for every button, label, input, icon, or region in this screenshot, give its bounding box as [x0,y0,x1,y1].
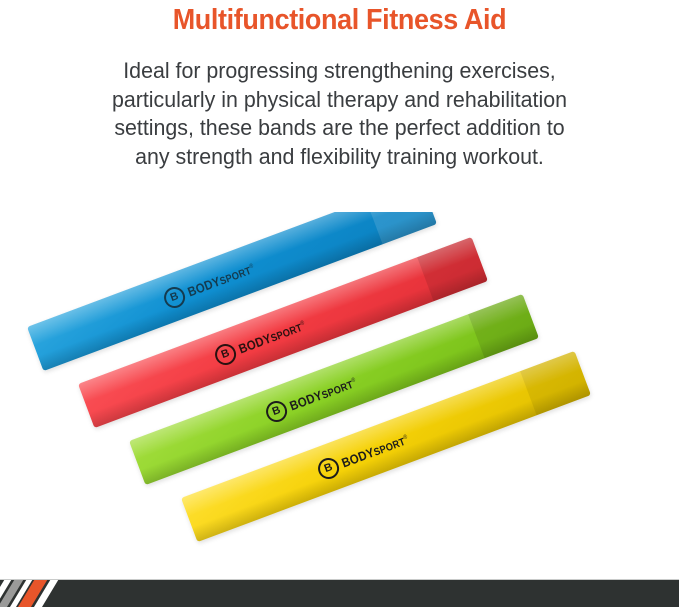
description-line-4: any strength and flexibility training wo… [66,143,612,172]
band-fold [366,212,437,244]
bodysport-wordmark: BODYSPORT® [339,431,410,470]
page-title: Multifunctional Fitness Aid [24,4,655,37]
bodysport-wordmark: BODYSPORT® [185,260,256,299]
bodysport-wordmark: BODYSPORT® [287,374,358,413]
band-fold [520,351,591,415]
product-feature-image: Multifunctional Fitness Aid Ideal for pr… [0,0,679,607]
bodysport-wordmark: BODYSPORT® [236,317,307,356]
b-monogram-icon: B [263,398,290,425]
description-line-1: Ideal for progressing strengthening exer… [66,57,612,86]
bodysport-logo-red: B BODYSPORT® [212,311,318,367]
product-photo: B BODYSPORT® B BODYSPORT® B BODYSPORT® B… [0,212,679,578]
bodysport-logo-yellow: B BODYSPORT® [315,425,421,481]
b-monogram-icon: B [212,341,239,368]
description-paragraph: Ideal for progressing strengthening exer… [66,57,612,171]
footer-bar [0,580,679,607]
bodysport-logo-green: B BODYSPORT® [263,368,369,424]
bodysport-logo-blue: B BODYSPORT® [161,254,267,310]
band-fold [468,294,539,358]
band-fold [417,237,488,301]
description-line-2: particularly in physical therapy and reh… [66,86,612,115]
b-monogram-icon: B [315,455,342,482]
description-line-3: settings, these bands are the perfect ad… [66,114,612,143]
b-monogram-icon: B [161,284,188,311]
